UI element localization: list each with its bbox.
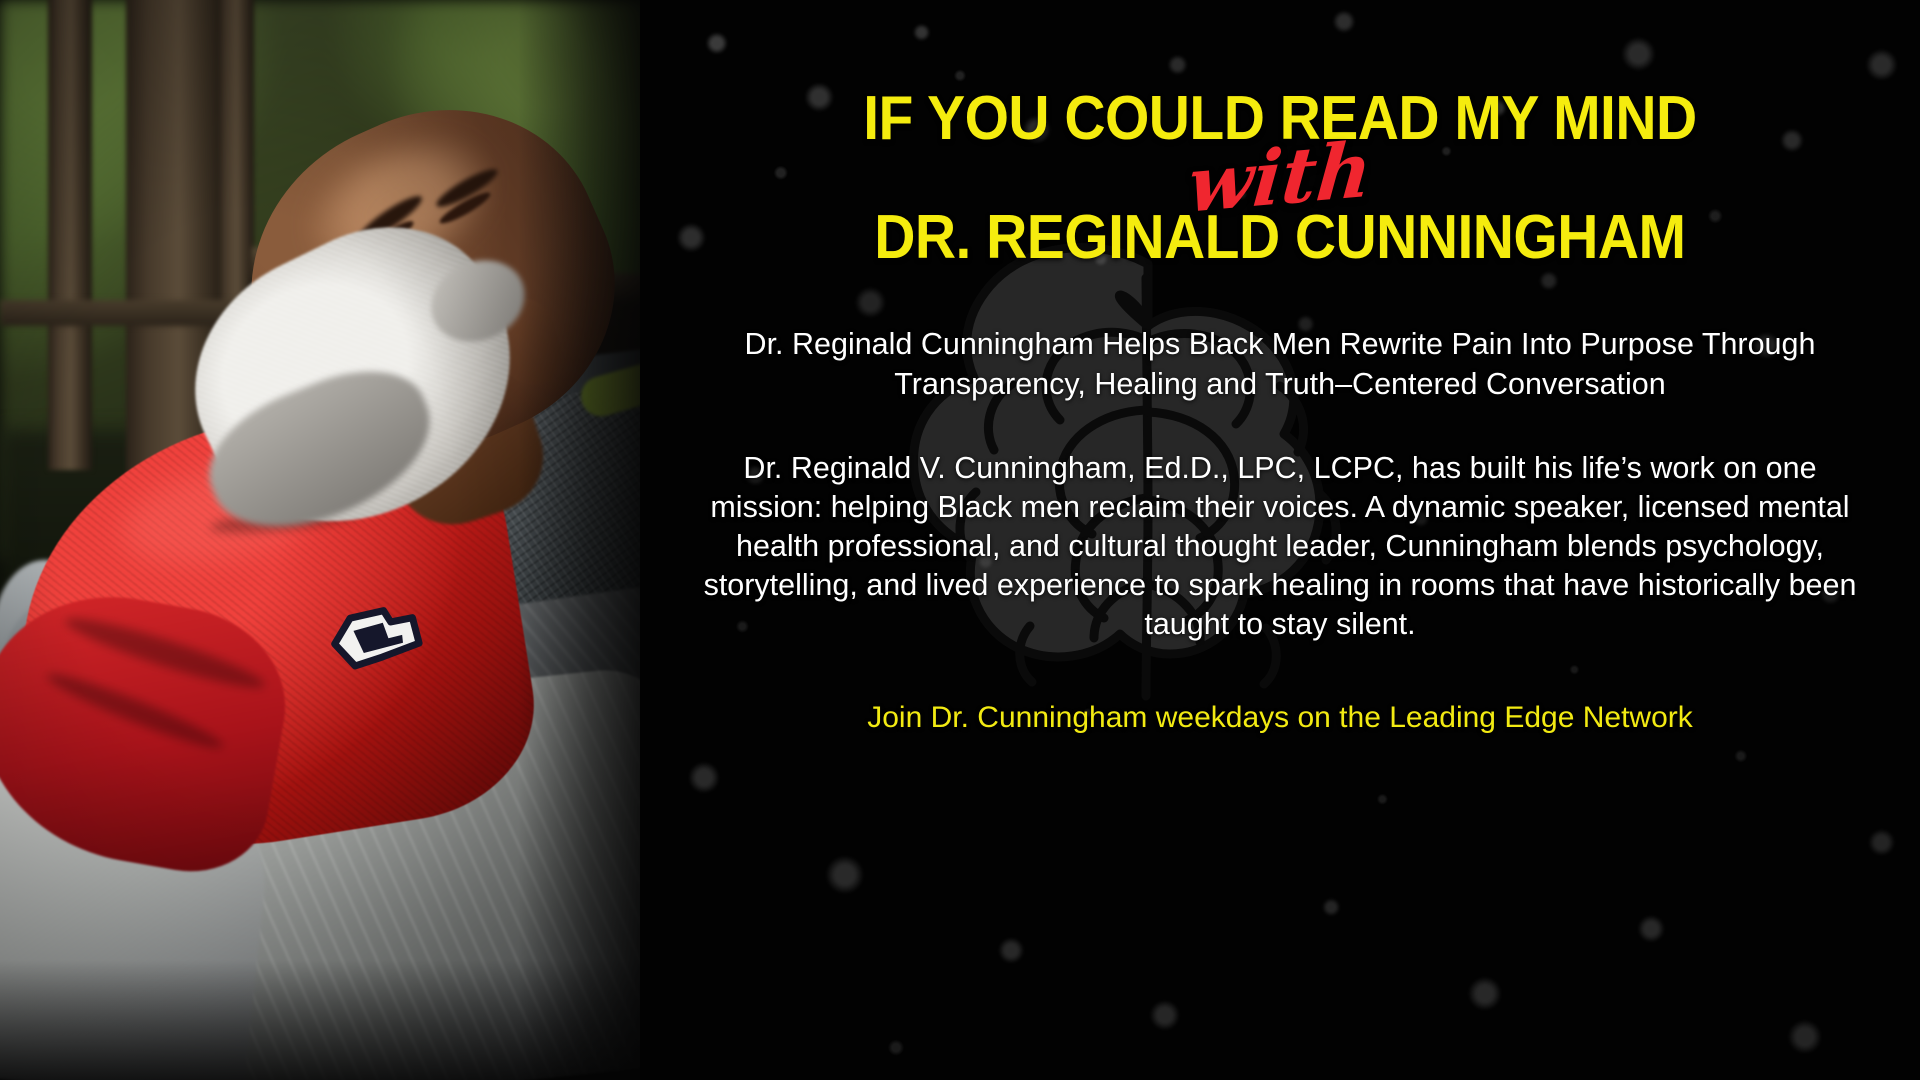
tagline-paragraph: Dr. Reginald Cunningham Helps Black Men … [690, 325, 1870, 404]
show-title-line-2: DR. REGINALD CUNNINGHAM [874, 207, 1685, 269]
subject-photo [0, 0, 668, 1080]
apparel-brand-logo-icon [318, 591, 426, 679]
call-to-action: Join Dr. Cunningham weekdays on the Lead… [867, 700, 1693, 736]
bio-paragraph: Dr. Reginald V. Cunningham, Ed.D., LPC, … [690, 449, 1870, 644]
promo-graphic-canvas: IF YOU COULD READ MY MIND with DR. REGIN… [0, 0, 1920, 1080]
porch-rail [0, 300, 250, 326]
content-panel: IF YOU COULD READ MY MIND with DR. REGIN… [640, 0, 1920, 1080]
porch-post [48, 0, 92, 470]
text-stack: IF YOU COULD READ MY MIND with DR. REGIN… [640, 0, 1920, 1080]
